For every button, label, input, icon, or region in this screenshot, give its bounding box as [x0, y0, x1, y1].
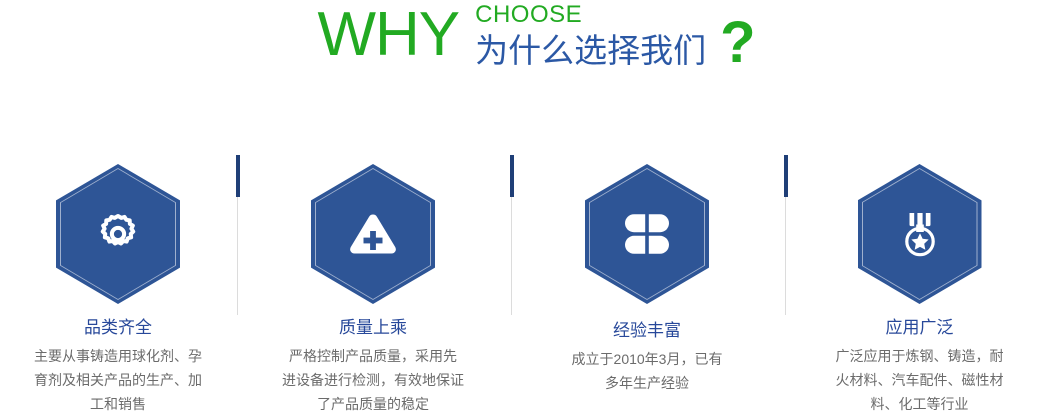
- medal-icon: [858, 164, 982, 304]
- feature-card[interactable]: 应用广泛 广泛应用于炼钢、铸造，耐 火材料、汽车配件、磁性材 料、化工等行业: [784, 150, 1055, 416]
- card-description-line: 火材料、汽车配件、磁性材: [784, 368, 1055, 392]
- card-title: 经验丰富: [613, 320, 681, 342]
- card-description: 成立于2010年3月，已有 多年生产经验: [510, 347, 784, 395]
- header-choose-text: CHOOSE: [475, 2, 706, 28]
- card-description-line: 了产品质量的稳定: [236, 392, 510, 416]
- card-divider: [510, 155, 514, 315]
- why-choose-us-section: WHY CHOOSE 为什么选择我们 ? 品类齐全: [0, 0, 1055, 416]
- card-divider: [236, 155, 240, 315]
- card-divider-accent: [784, 155, 788, 197]
- card-description-line: 料、化工等行业: [784, 392, 1055, 416]
- header-inner: WHY CHOOSE 为什么选择我们 ?: [317, 0, 755, 72]
- header-text-stack: CHOOSE 为什么选择我们: [475, 2, 706, 71]
- hexagon-badge: [858, 164, 982, 301]
- card-description-line: 严格控制产品质量，采用先: [236, 344, 510, 368]
- header-question-mark: ?: [720, 14, 755, 72]
- section-header: WHY CHOOSE 为什么选择我们 ?: [0, 0, 1055, 100]
- feature-card[interactable]: 质量上乘 严格控制产品质量，采用先 进设备进行检测，有效地保证 了产品质量的稳定: [236, 150, 510, 416]
- clover-icon: [585, 164, 709, 304]
- hexagon-badge: [56, 164, 180, 301]
- gear-icon: [56, 164, 180, 304]
- card-divider: [784, 155, 788, 315]
- card-divider-accent: [236, 155, 240, 197]
- feature-card[interactable]: 经验丰富 成立于2010年3月，已有 多年生产经验: [510, 150, 784, 416]
- card-divider-line: [237, 197, 238, 315]
- card-description-line: 进设备进行检测，有效地保证: [236, 368, 510, 392]
- hexagon-badge: [585, 164, 709, 304]
- feature-card[interactable]: 品类齐全 主要从事铸造用球化剂、孕 育剂及相关产品的生产、加 工和销售: [0, 150, 236, 416]
- card-description-line: 工和销售: [0, 392, 236, 416]
- card-description-line: 多年生产经验: [510, 371, 784, 395]
- card-description: 广泛应用于炼钢、铸造，耐 火材料、汽车配件、磁性材 料、化工等行业: [784, 344, 1055, 416]
- card-description-line: 成立于2010年3月，已有: [510, 347, 784, 371]
- card-divider-accent: [510, 155, 514, 197]
- header-why-text: WHY: [317, 4, 459, 66]
- card-description-line: 广泛应用于炼钢、铸造，耐: [784, 344, 1055, 368]
- hexagon-badge: [311, 164, 435, 301]
- card-divider-line: [785, 197, 786, 315]
- card-title: 应用广泛: [886, 317, 954, 339]
- triangle-plus-icon: [311, 164, 435, 304]
- card-description-line: 育剂及相关产品的生产、加: [0, 368, 236, 392]
- card-description: 主要从事铸造用球化剂、孕 育剂及相关产品的生产、加 工和销售: [0, 344, 236, 416]
- card-description: 严格控制产品质量，采用先 进设备进行检测，有效地保证 了产品质量的稳定: [236, 344, 510, 416]
- card-description-line: 主要从事铸造用球化剂、孕: [0, 344, 236, 368]
- card-title: 品类齐全: [84, 317, 152, 339]
- card-divider-line: [511, 197, 512, 315]
- card-title: 质量上乘: [339, 317, 407, 339]
- feature-card-row: 品类齐全 主要从事铸造用球化剂、孕 育剂及相关产品的生产、加 工和销售: [0, 150, 1055, 416]
- header-chinese-text: 为什么选择我们: [475, 31, 706, 71]
